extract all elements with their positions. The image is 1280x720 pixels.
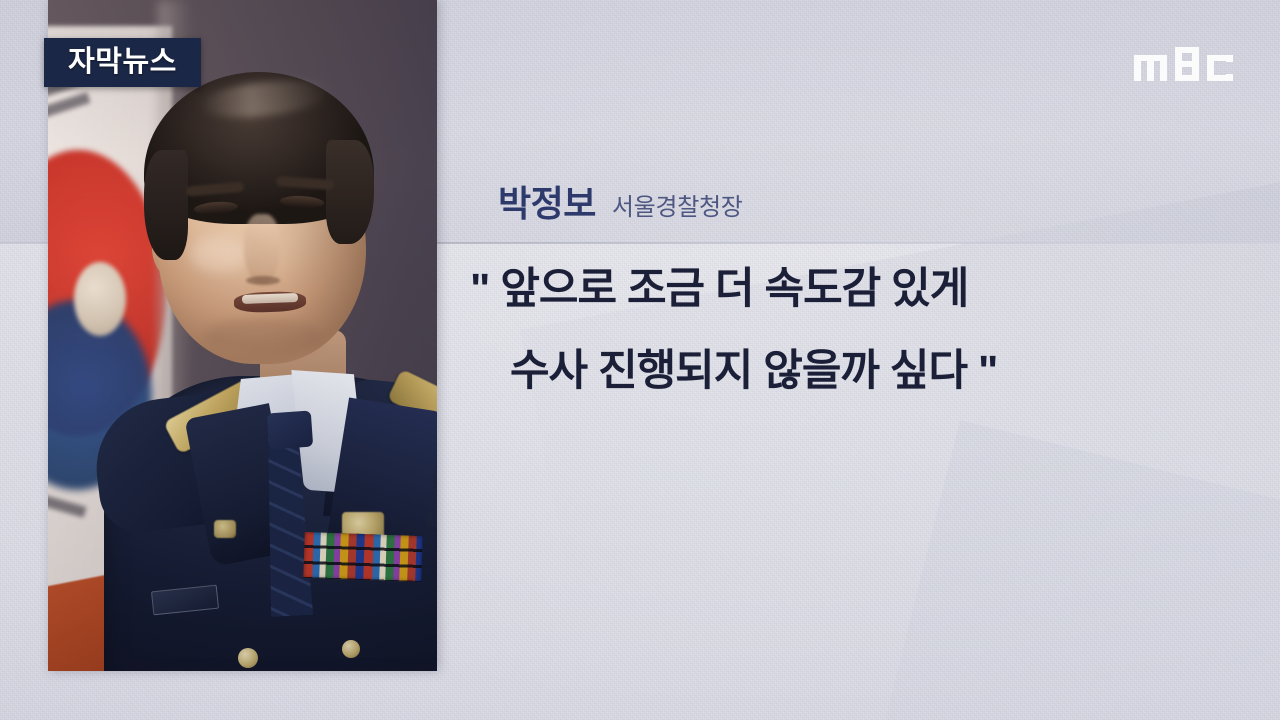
quote-line-1: " 앞으로 조금 더 속도감 있게	[470, 268, 1190, 311]
quote-open-mark: "	[470, 265, 489, 313]
subtitle-news-badge-label: 자막뉴스	[68, 48, 177, 77]
quote-line-1-text: 앞으로 조금 더 속도감 있게	[500, 265, 968, 313]
speaker-identification: 박정보 서울경찰청장	[498, 186, 743, 222]
speaker-name: 박정보	[498, 186, 596, 222]
quote-block: " 앞으로 조금 더 속도감 있게 수사 진행되지 않을까 싶다 "	[470, 268, 1190, 393]
speaker-photo	[48, 0, 437, 671]
photo-color-grade	[48, 0, 437, 671]
broadcast-lower-third-screen: 자막뉴스	[0, 0, 1280, 720]
horizontal-divider	[437, 242, 1280, 244]
speaker-title: 서울경찰청장	[612, 196, 743, 222]
quote-close-mark: "	[978, 347, 997, 395]
quote-line-2-text: 수사 진행되지 않을까 싶다	[510, 347, 967, 395]
horizontal-divider-left-stub	[0, 242, 50, 244]
subtitle-news-badge: 자막뉴스	[44, 38, 201, 87]
mbc-logo-icon	[1134, 45, 1246, 83]
quote-line-2: 수사 진행되지 않을까 싶다 "	[510, 350, 1190, 393]
mbc-logo	[1134, 45, 1246, 83]
